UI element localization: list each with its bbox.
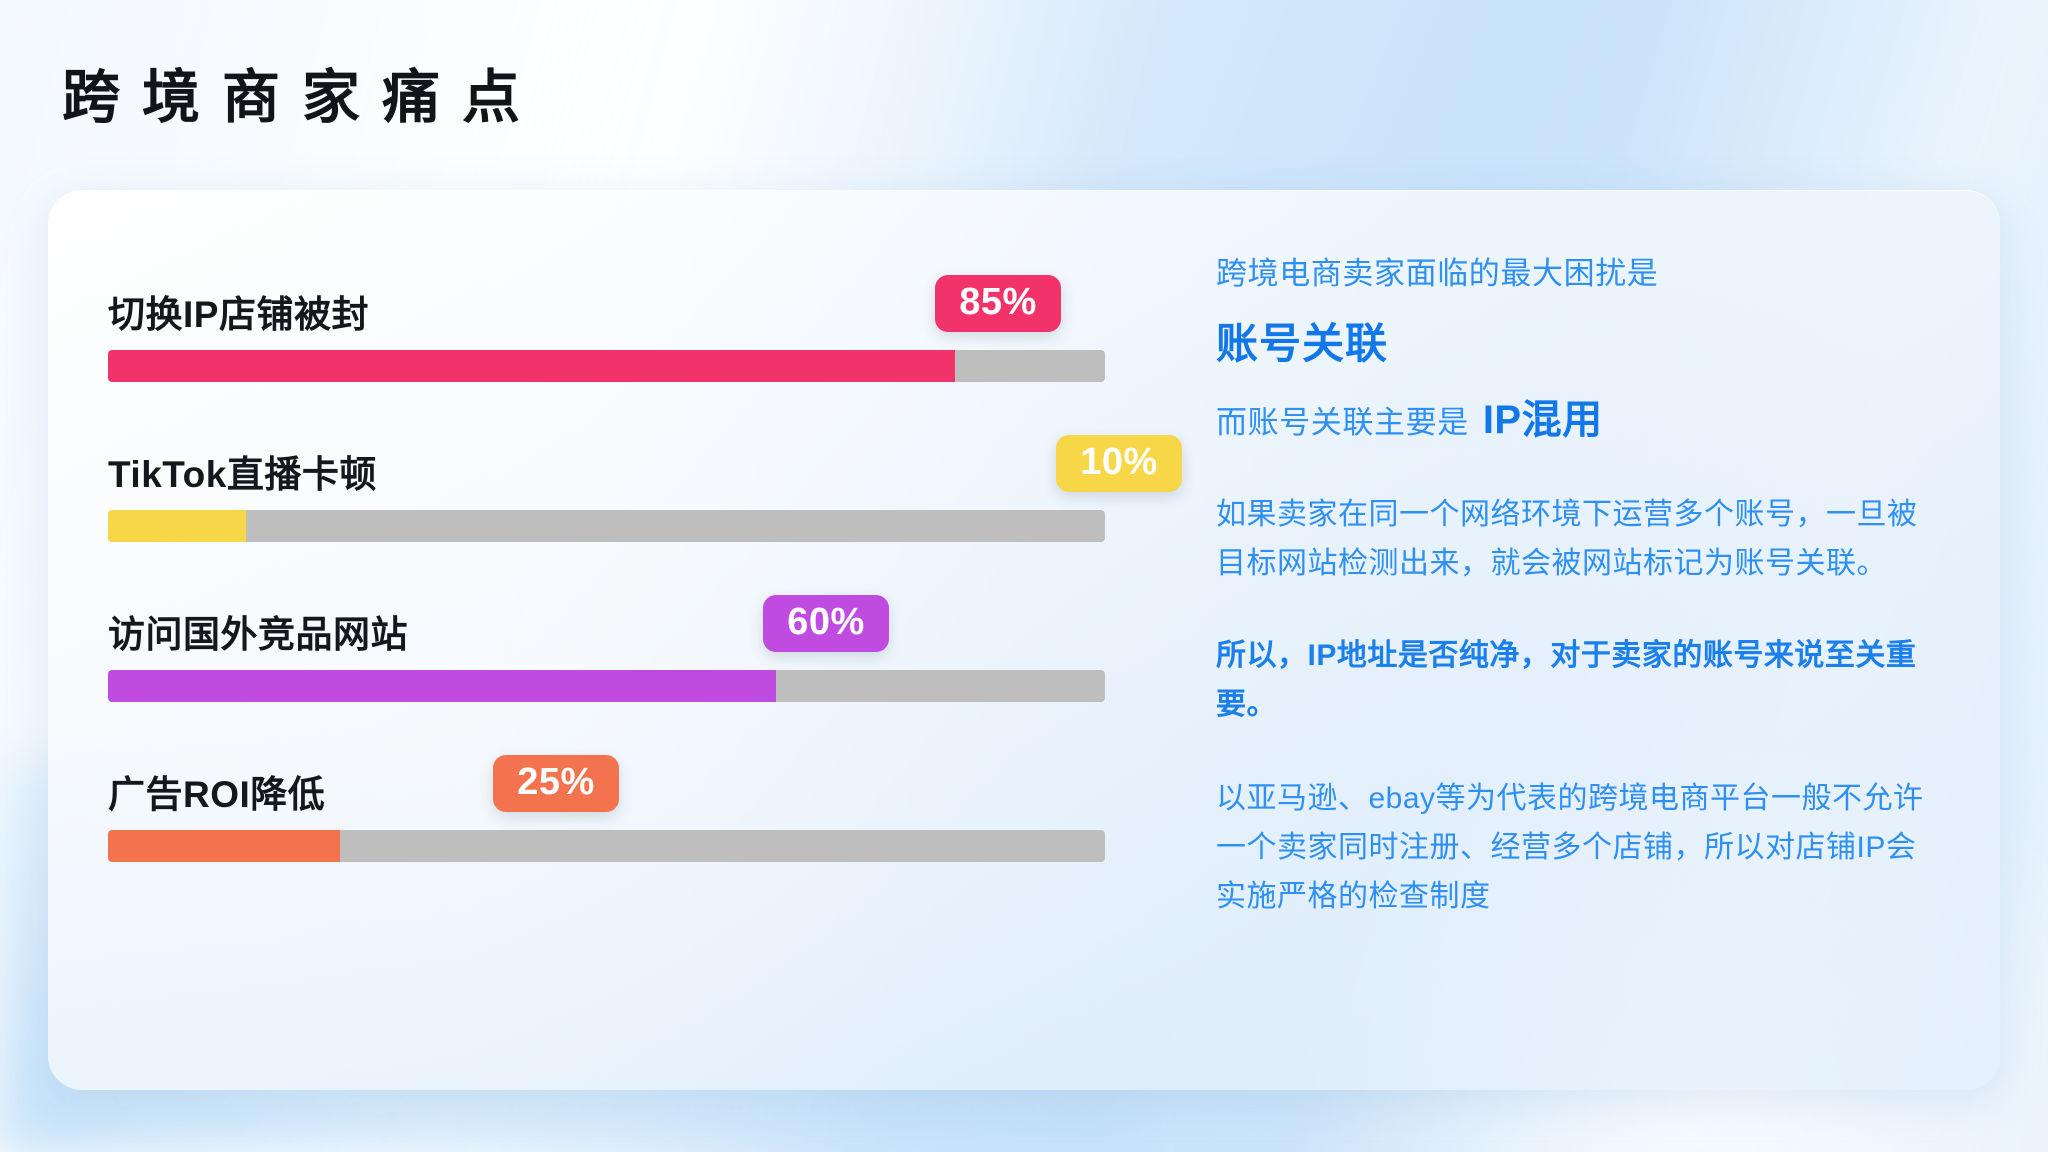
insight-text-panel: 跨境电商卖家面临的最大困扰是 账号关联 而账号关联主要是 IP混用 如果卖家在同…: [1198, 190, 2000, 1090]
bar-value-badge: 25%: [493, 755, 619, 812]
bar-row: TikTok直播卡顿 10%: [108, 414, 1198, 574]
bar-value-badge: 60%: [763, 595, 889, 652]
page-title: 跨境商家痛点: [62, 50, 542, 134]
bar-category-label: 访问国外竞品网站: [108, 604, 408, 658]
bar-row: 切换IP店铺被封 85%: [108, 254, 1198, 414]
insight-headline: 账号关联: [1216, 310, 1928, 371]
bar-fill: [108, 350, 955, 382]
bar-row-header: 切换IP店铺被封 85%: [108, 254, 1198, 346]
bar-row-header: 广告ROI降低 25%: [108, 734, 1198, 826]
pain-point-bar-chart: 切换IP店铺被封 85% TikTok直播卡顿 10% 访问国外竞品网站 60%: [48, 190, 1198, 1090]
bar-row-header: TikTok直播卡顿 10%: [108, 414, 1198, 506]
insight-paragraph-emphasis: 所以，IP地址是否纯净，对于卖家的账号来说至关重要。: [1216, 632, 1928, 729]
bar-track: [108, 350, 1105, 382]
insight-paragraph: 以亚马逊、ebay等为代表的跨境电商平台一般不允许一个卖家同时注册、经营多个店铺…: [1216, 775, 1928, 921]
bar-fill: [108, 830, 340, 862]
bar-fill: [108, 510, 246, 542]
content-card: 切换IP店铺被封 85% TikTok直播卡顿 10% 访问国外竞品网站 60%: [48, 190, 2000, 1090]
bar-track: [108, 830, 1105, 862]
insight-lead: 跨境电商卖家面临的最大困扰是: [1216, 252, 1928, 296]
insight-paragraph: 如果卖家在同一个网络环境下运营多个账号，一旦被目标网站检测出来，就会被网站标记为…: [1216, 491, 1928, 588]
bar-track: [108, 510, 1105, 542]
bar-value-badge: 85%: [935, 275, 1061, 332]
bar-category-label: 广告ROI降低: [108, 764, 325, 818]
bar-fill: [108, 670, 776, 702]
insight-subline-strong: IP混用: [1483, 387, 1603, 445]
bar-category-label: TikTok直播卡顿: [108, 444, 377, 498]
bar-row: 广告ROI降低 25%: [108, 734, 1198, 894]
bar-row: 访问国外竞品网站 60%: [108, 574, 1198, 734]
bar-value-badge: 10%: [1056, 435, 1182, 492]
insight-subline-prefix: 而账号关联主要是: [1216, 397, 1469, 442]
bar-category-label: 切换IP店铺被封: [108, 284, 369, 338]
insight-subline: 而账号关联主要是 IP混用: [1216, 387, 1928, 445]
bar-row-header: 访问国外竞品网站 60%: [108, 574, 1198, 666]
bar-track: [108, 670, 1105, 702]
